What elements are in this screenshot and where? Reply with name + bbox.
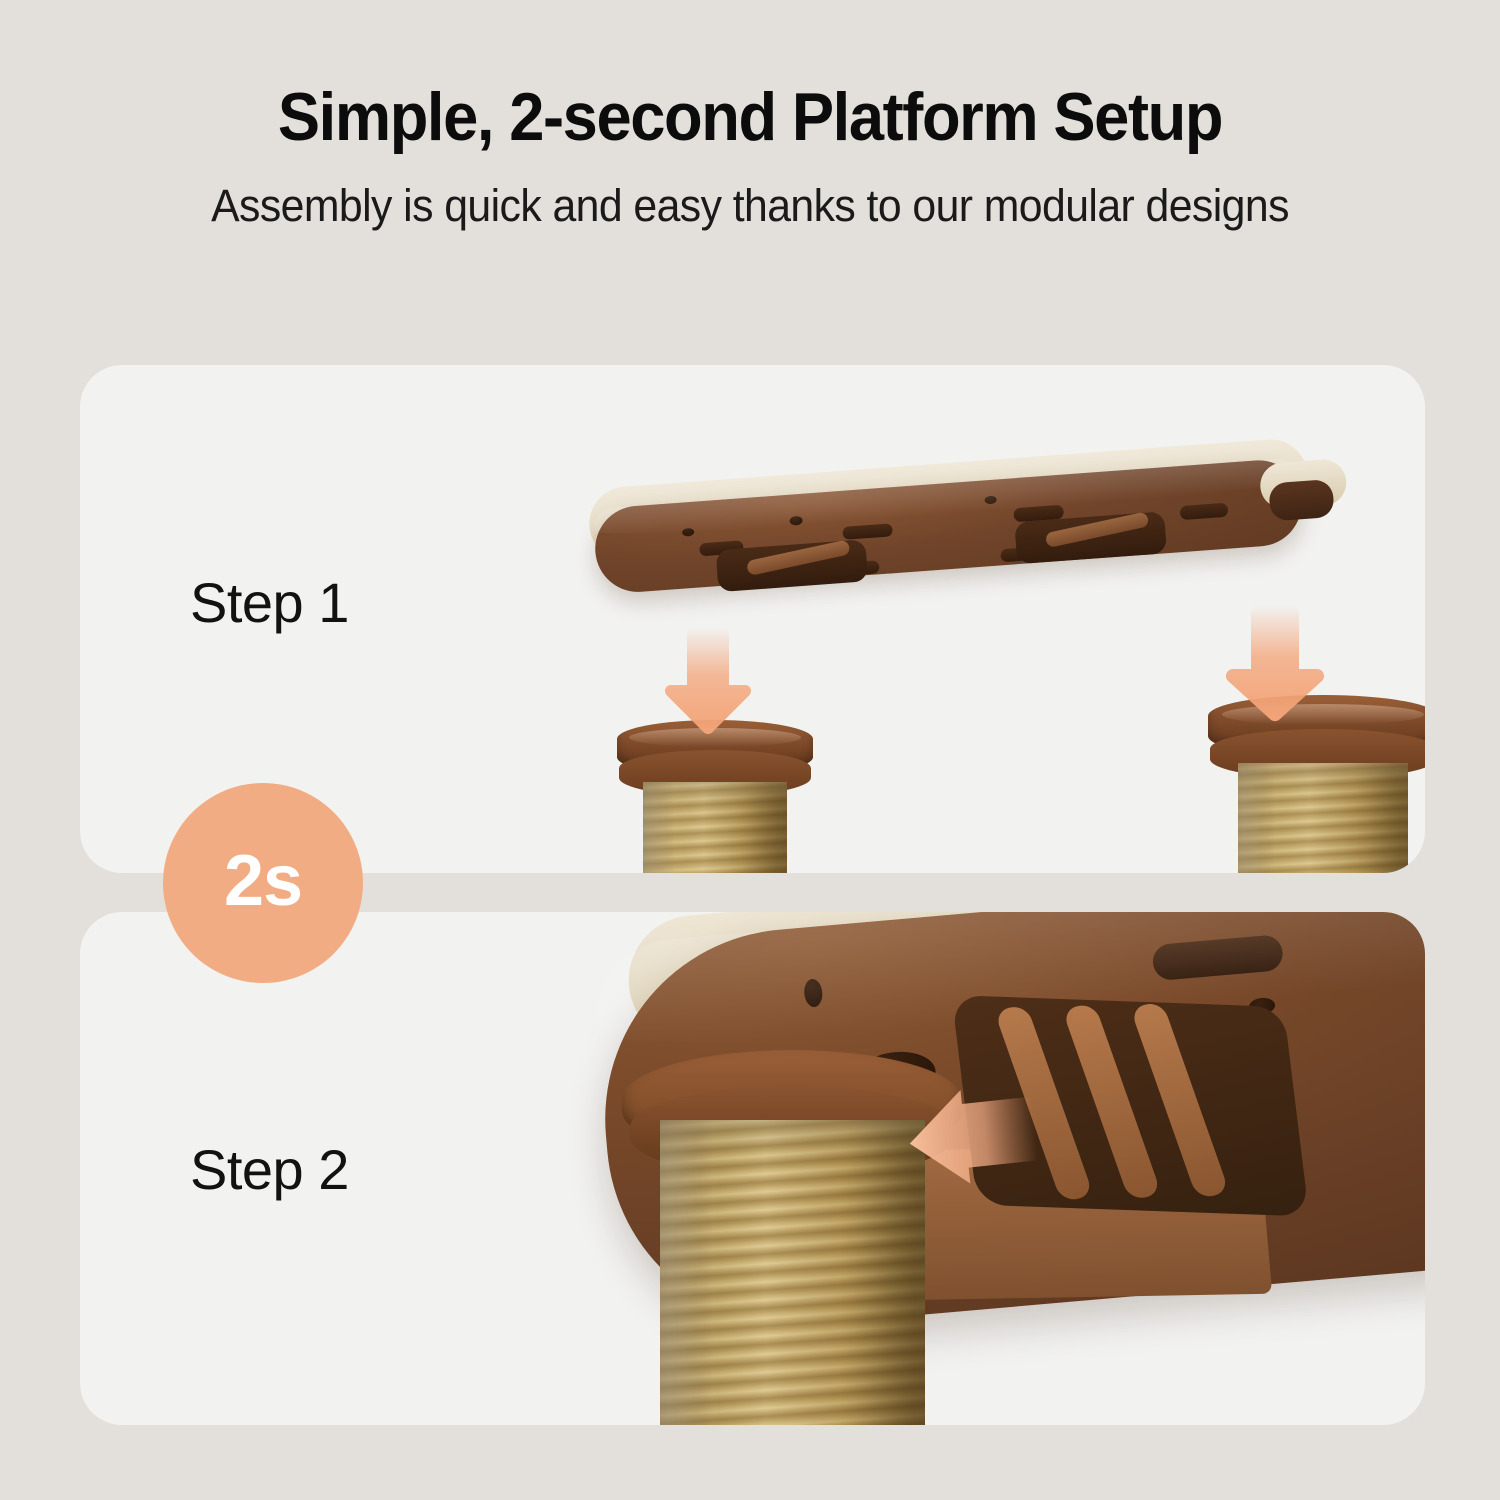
arrow-left-icon — [903, 1081, 1044, 1204]
post-sisal-rope — [1238, 763, 1408, 873]
duration-badge: 2s — [163, 783, 363, 983]
page-subtitle: Assembly is quick and easy thanks to our… — [38, 156, 1463, 232]
header: Simple, 2-second Platform Setup Assembly… — [0, 0, 1500, 232]
post-sisal-rope — [660, 1120, 925, 1425]
arrow-down-icon — [660, 627, 756, 737]
platform-board-top — [587, 437, 1313, 604]
sisal-post-left — [565, 720, 765, 873]
sisal-post-installed — [660, 1092, 925, 1425]
arrow-down-icon — [1220, 605, 1330, 725]
step-2-label: Step 2 — [190, 1137, 349, 1202]
page-title: Simple, 2-second Platform Setup — [53, 0, 1448, 156]
post-sisal-rope — [643, 782, 787, 873]
step-2-card: Step 2 — [80, 912, 1425, 1425]
step-1-label: Step 1 — [190, 570, 349, 635]
duration-badge-label: 2s — [224, 840, 302, 922]
platform-latch-slot — [1268, 479, 1335, 522]
